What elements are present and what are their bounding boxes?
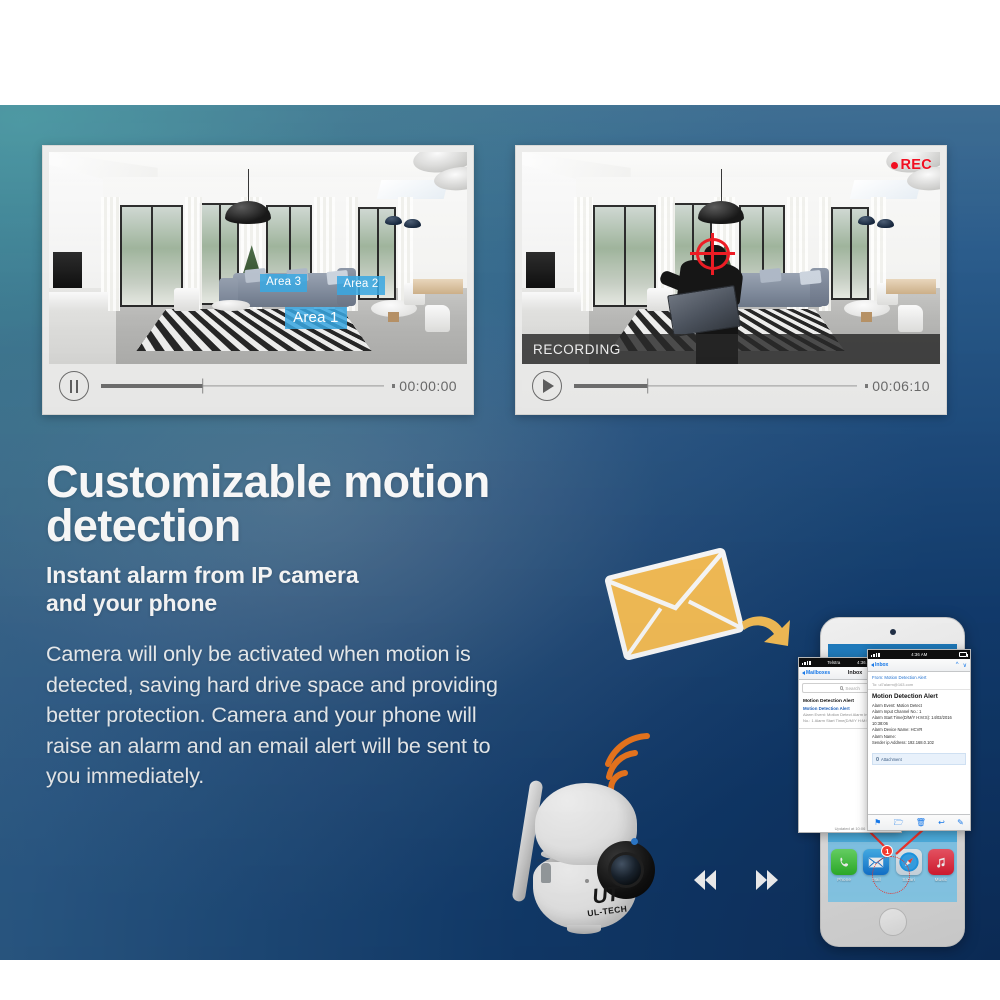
progress-track-recording[interactable] [574,379,857,393]
status-time-detail: 4:36 AM [911,652,927,657]
wifi-signal-icon [603,733,673,795]
chevron-down-icon[interactable]: ∨ [963,662,967,669]
signal-icon [871,653,880,657]
curved-arrow-icon [740,610,792,654]
timestamp-label: 00:00:00 [399,378,457,394]
timestamp-label: 00:06:10 [872,378,930,394]
chevron-left-icon [802,671,805,675]
mail-detail-title: Motion Detection Alert [868,690,970,702]
back-label: Inbox [875,662,888,668]
back-label: Mailboxes [806,670,830,676]
mail-action-toolbar: ⚑ 🗁 🗑 ↩ ✎ [868,814,970,830]
recording-status-banner: RECORDING [522,334,940,364]
timestamp-idle: 00:00:00 [392,378,467,394]
crosshair-target-icon [696,238,730,270]
pause-button[interactable] [59,371,89,401]
time-marker-icon [392,384,396,388]
record-dot-icon [891,162,898,169]
reply-icon[interactable]: ↩ [938,819,945,827]
camera-head [535,783,637,865]
signal-icon [802,661,811,665]
promo-canvas: Area 3 Area 2 Area 1 00:00:00 [0,0,1000,1000]
chevron-left-icon [871,663,874,667]
page-title: Customizable motion detection [46,460,516,548]
area-tag-1[interactable]: Area 1 [285,307,346,329]
video-screen-recording: REC RECORDING [522,152,940,364]
trash-icon[interactable]: 🗑 [916,819,926,827]
sd-card-slot [541,863,551,883]
detail-nav-bar: Inbox ^ ∨ [868,659,970,672]
rewind-double-arrow-icon[interactable] [694,870,716,890]
copy-block: Customizable motion detection Instant al… [46,460,516,792]
ip-camera-device: UT UL-TECH [505,735,695,945]
area-tag-3[interactable]: Area 3 [260,274,307,293]
chevron-up-icon[interactable]: ^ [956,662,959,669]
playback-controls-recording: 00:06:10 [522,364,940,408]
paperclip-icon [876,757,879,762]
body-paragraph: Camera will only be activated when motio… [46,639,516,792]
flag-icon[interactable]: ⚑ [874,819,881,827]
living-room-scene-intrusion [522,152,940,364]
folder-icon[interactable]: 🗁 [894,819,904,827]
play-icon [543,379,554,393]
mail-detail-screenshot[interactable]: 4:36 AM Inbox ^ ∨ From: Motion Detection… [867,649,971,831]
timestamp-recording: 00:06:10 [865,378,940,394]
status-led-icon [631,838,638,845]
mail-line: Sender ip Address: 192.168.0.102 [872,740,966,746]
mail-to: To: ul7alarm@163.com [872,682,966,687]
rec-indicator: REC [891,157,932,173]
attachment-label: Attachment [881,757,902,762]
carrier-label: Telstra [827,660,840,665]
front-camera-icon [890,629,896,635]
pause-icon [70,380,79,393]
play-button[interactable] [532,371,562,401]
area-tag-2[interactable]: Area 2 [337,276,384,295]
mail-body-lines: Alarm Event: Motion Detect Alarm Input C… [868,702,970,750]
microphone-icon [585,879,589,883]
envelope-icon [603,546,746,662]
search-icon [840,686,843,689]
back-to-mailboxes-button[interactable]: Mailboxes [802,670,830,676]
search-placeholder: Search [845,686,860,691]
gradient-stage: Area 3 Area 2 Area 1 00:00:00 [0,105,1000,960]
ios-status-bar-detail: 4:36 AM [868,650,970,659]
inbox-title: Inbox [848,670,862,676]
mail-attachment[interactable]: Attachment [872,753,966,765]
mail-meta: From: Motion Detection Alert To: ul7alar… [868,672,970,690]
dotted-highlight-ring [872,856,910,894]
recording-status-label: RECORDING [533,342,621,357]
rec-label: REC [900,157,932,173]
navigation-arrows [694,867,778,893]
dock-label-phone: Phone [831,877,857,882]
living-room-scene [49,152,467,364]
video-screen-idle: Area 3 Area 2 Area 1 [49,152,467,364]
dock-label-music: Music [928,877,954,882]
page-subtitle: Instant alarm from IP camera and your ph… [46,562,516,617]
mail-from: From: Motion Detection Alert [872,675,966,680]
playback-controls-idle: 00:00:00 [49,364,467,408]
compose-icon[interactable]: ✎ [957,819,964,827]
home-button-icon[interactable] [879,908,907,936]
video-player-recording[interactable]: REC RECORDING 00:06:10 [515,145,947,415]
video-player-idle[interactable]: Area 3 Area 2 Area 1 00:00:00 [42,145,474,415]
time-marker-icon [865,384,869,388]
battery-icon [959,652,967,656]
forward-double-arrow-icon[interactable] [756,870,778,890]
back-to-inbox-button[interactable]: Inbox [871,662,888,668]
progress-track-idle[interactable] [101,379,384,393]
